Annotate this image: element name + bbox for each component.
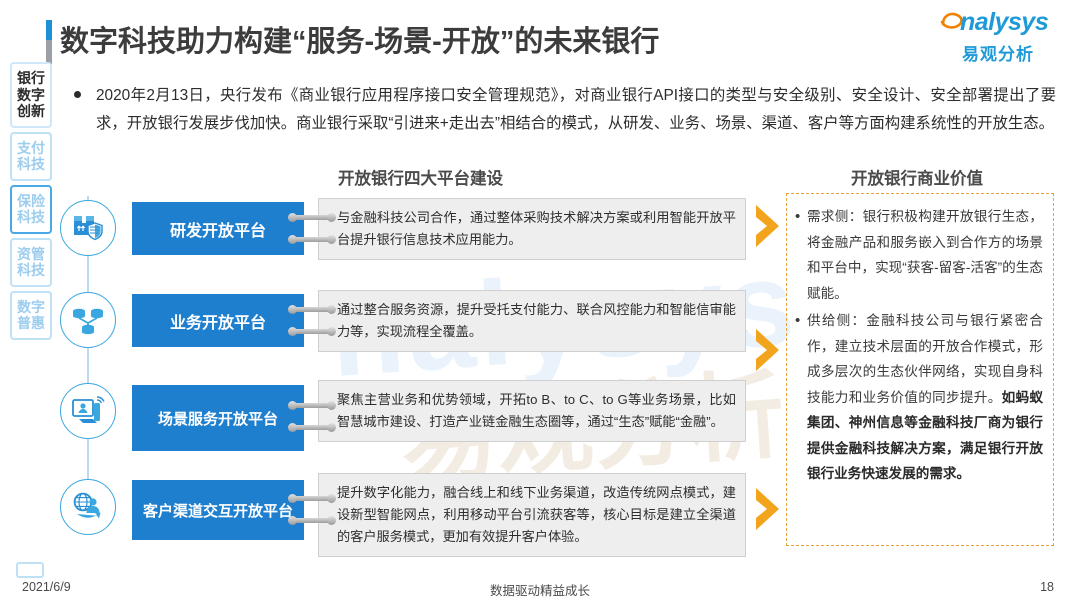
lead-paragraph: 2020年2月13日，央行发布《商业银行应用程序接口安全管理规范》，对商业银行A… — [96, 82, 1056, 138]
title-accent-bar — [46, 20, 52, 64]
value-list-item: • 供给侧：金融科技公司与银行紧密合作，建立技术层面的开放合作模式，形成多层次的… — [795, 308, 1043, 487]
connector-link-icon — [288, 494, 336, 503]
section-header-value: 开放银行商业价值 — [851, 165, 983, 189]
footer-tagline: 数据驱动精益成长 — [0, 580, 1080, 599]
bullet-icon: • — [795, 204, 807, 306]
platform-name-box[interactable]: 客户渠道交互开放平台 — [132, 480, 304, 540]
sidebar-item-payment-tech[interactable]: 支付科技 — [10, 132, 52, 181]
sidebar-item-insurance-tech[interactable]: 保险科技 — [10, 185, 52, 234]
value-item-normal-text: 需求侧：银行积极构建开放银行生态，将金融产品和服务嵌入到合作方的场景和平台中，实… — [807, 209, 1043, 301]
footer-page-number: 18 — [1040, 580, 1054, 594]
platform-description: 提升数字化能力，融合线上和线下业务渠道，改造传统网点模式，建设新型智能网点，利用… — [318, 473, 746, 557]
sidebar-item-label: 银行数字创新 — [12, 70, 50, 120]
platform-description: 通过整合服务资源，提升受托支付能力、联合风控能力和智能信审能力等，实现流程全覆盖… — [318, 290, 746, 352]
sidebar-item-label: 保险科技 — [12, 193, 50, 226]
platform-name-label: 研发开放平台 — [170, 217, 266, 241]
logo-chinese-name: 易观分析 — [934, 40, 1062, 65]
package-shield-icon — [60, 200, 116, 256]
connector-link-icon — [288, 213, 336, 222]
platform-name-label: 业务开放平台 — [170, 309, 266, 333]
footer-corner-mark — [16, 562, 44, 578]
chevron-right-icon — [752, 202, 786, 250]
platform-name-box[interactable]: 研发开放平台 — [132, 202, 304, 255]
chevron-right-icon — [752, 326, 786, 374]
sidebar-item-asset-management-tech[interactable]: 资管科技 — [10, 238, 52, 287]
chevron-right-icon — [752, 485, 786, 533]
slide-canvas: nalysys 易观分析 数字科技助力构建“服务-场景-开放”的未来银行 nal… — [0, 0, 1080, 608]
value-item-text: 需求侧：银行积极构建开放银行生态，将金融产品和服务嵌入到合作方的场景和平台中，实… — [807, 204, 1043, 306]
business-value-panel: • 需求侧：银行积极构建开放银行生态，将金融产品和服务嵌入到合作方的场景和平台中… — [786, 193, 1054, 546]
logo-wordmark: nalysys — [960, 8, 1048, 37]
sidebar-item-label: 支付科技 — [12, 140, 50, 173]
globe-user-icon-glyph — [71, 490, 105, 524]
globe-user-icon — [60, 479, 116, 535]
sidebar-item-digital-inclusive-finance[interactable]: 数字普惠 — [10, 291, 52, 340]
platform-description: 聚焦主营业务和优势领域，开拓to B、to C、to G等业务场景，比如智慧城市… — [318, 380, 746, 442]
value-list-item: • 需求侧：银行积极构建开放银行生态，将金融产品和服务嵌入到合作方的场景和平台中… — [795, 204, 1043, 306]
database-network-icon — [60, 292, 116, 348]
screen-user-signal-icon-glyph — [71, 394, 105, 428]
analysys-logo: nalysys 易观分析 — [934, 8, 1062, 64]
page-title: 数字科技助力构建“服务-场景-开放”的未来银行 — [60, 18, 659, 60]
database-network-icon-glyph — [71, 303, 105, 337]
connector-link-icon — [288, 327, 336, 336]
connector-link-icon — [288, 423, 336, 432]
sidebar-item-label: 资管科技 — [12, 246, 50, 279]
platform-name-label: 客户渠道交互开放平台 — [143, 500, 293, 521]
connector-link-icon — [288, 401, 336, 410]
section-header-platforms: 开放银行四大平台建设 — [338, 165, 503, 189]
platform-name-box[interactable]: 业务开放平台 — [132, 294, 304, 347]
sidebar-item-bank-digital-innovation[interactable]: 银行数字创新 — [10, 62, 52, 128]
connector-link-icon — [288, 235, 336, 244]
platform-name-label: 场景服务开放平台 — [158, 408, 278, 429]
sidebar-tabs: 银行数字创新 支付科技 保险科技 资管科技 数字普惠 — [10, 62, 52, 344]
slide-footer: 2021/6/9 数据驱动精益成长 18 — [0, 580, 1080, 600]
value-item-text: 供给侧：金融科技公司与银行紧密合作，建立技术层面的开放合作模式，形成多层次的生态… — [807, 308, 1043, 487]
platform-description: 与金融科技公司合作，通过整体采购技术解决方案或利用智能开放平台提升银行信息技术应… — [318, 198, 746, 260]
lead-bullet-icon — [74, 91, 81, 98]
package-shield-icon-glyph — [71, 211, 105, 245]
sidebar-item-label: 数字普惠 — [12, 299, 50, 332]
connector-link-icon — [288, 516, 336, 525]
connector-link-icon — [288, 305, 336, 314]
bullet-icon: • — [795, 308, 807, 487]
platform-name-box[interactable]: 场景服务开放平台 — [132, 385, 304, 451]
screen-user-signal-icon — [60, 383, 116, 439]
